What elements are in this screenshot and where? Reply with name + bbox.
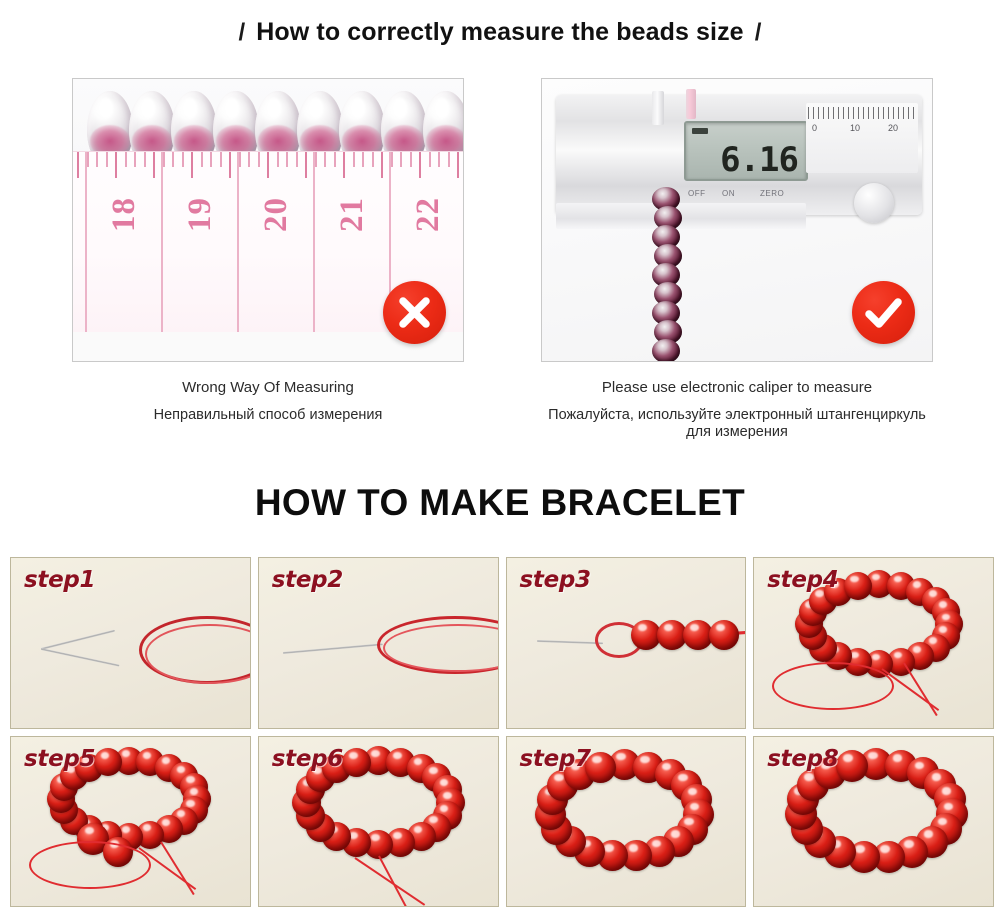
step-cell-2: step2: [258, 557, 499, 729]
tape-number-21: 21: [334, 197, 371, 232]
lcd-reading: 6.16: [720, 143, 798, 177]
caliper-scale-tick: [858, 107, 859, 119]
bracelet-steps-grid: step1 step2 step3 step4 step5 step6step7…: [10, 557, 994, 907]
step-cell-8: step8: [753, 736, 994, 908]
cord-loop: [772, 662, 894, 710]
tape-tick: [324, 152, 326, 167]
tape-tick: [182, 152, 184, 167]
caliper-scale-tick: [898, 107, 899, 119]
caliper-button-on[interactable]: ON: [722, 189, 735, 198]
page-title-text: How to correctly measure the beads size: [256, 18, 743, 46]
lcd-mm-indicator: [692, 128, 708, 134]
tape-tick: [419, 152, 421, 178]
wrong-caption-ru: Неправильный способ измерения: [72, 407, 464, 424]
beading-needle: [41, 648, 120, 667]
cord-tail: [354, 857, 425, 906]
caliper-scale-tick: [878, 107, 879, 119]
tape-tick: [201, 152, 203, 167]
tape-tick: [248, 152, 250, 167]
tape-tick: [134, 152, 136, 167]
tape-tick: [381, 152, 383, 178]
tape-tick: [125, 152, 127, 167]
caliper-scale-tick: [813, 107, 814, 119]
step-label-6: step6: [272, 746, 343, 772]
tape-segment-divider: [85, 152, 87, 332]
tape-tick: [305, 152, 307, 178]
wrong-method-photo: 1819202122: [72, 78, 464, 362]
tape-tick: [448, 152, 450, 167]
caliper-jaw: [652, 91, 664, 125]
tape-tick: [438, 152, 440, 167]
caliper-scale-tick: [908, 107, 909, 119]
caliper-thumb-wheel: [854, 183, 894, 223]
status-badge-correct: [852, 281, 915, 344]
tape-tick: [353, 152, 355, 167]
caliper-scale-tick: [853, 107, 854, 119]
tape-tick: [267, 152, 269, 178]
garnet-bead-strand: [652, 187, 682, 362]
tape-number-18: 18: [106, 197, 143, 232]
status-badge-wrong: [383, 281, 446, 344]
caliper-scale-tick: [888, 107, 889, 119]
tape-tick: [115, 152, 117, 178]
caliper-scale-tick: [863, 107, 864, 119]
tape-tick: [277, 152, 279, 167]
caliper-scale: 01020: [806, 103, 918, 173]
tape-tick: [362, 152, 364, 167]
tape-tick: [258, 152, 260, 167]
wrong-caption-en: Wrong Way Of Measuring: [72, 379, 464, 397]
caliper-scale-tick: [843, 107, 844, 119]
caliper-button-off[interactable]: OFF: [688, 189, 706, 198]
step-cell-1: step1: [10, 557, 251, 729]
tape-tick: [286, 152, 288, 167]
caliper-scale-tick: [828, 107, 829, 119]
tape-tick: [106, 152, 108, 167]
beading-needle: [283, 643, 383, 654]
beading-needle: [536, 640, 602, 644]
step-label-5: step5: [24, 746, 95, 772]
step-cell-4: step4: [753, 557, 994, 729]
red-bead: [836, 750, 868, 782]
caliper-lcd-display: 6.16: [684, 121, 808, 181]
caliper-button-zero[interactable]: ZERO: [760, 189, 784, 198]
tape-tick: [220, 152, 222, 167]
beading-needle: [41, 630, 115, 650]
step-label-8: step8: [767, 746, 838, 772]
tape-tick: [372, 152, 374, 167]
correct-method-card: 6.16 01020 OFF ON ZERO: [541, 78, 933, 442]
tape-tick: [229, 152, 231, 178]
step-cell-3: step3: [506, 557, 747, 729]
tape-tick: [334, 152, 336, 167]
cord-tail: [378, 855, 413, 907]
tape-tick: [400, 152, 402, 167]
caliper-scale-tick: [808, 107, 809, 119]
tape-segment-divider: [313, 152, 315, 332]
caliper-scale-tick: [903, 107, 904, 119]
step-label-3: step3: [520, 567, 591, 593]
tape-tick: [429, 152, 431, 167]
caliper-scale-tick: [818, 107, 819, 119]
tape-number-19: 19: [182, 197, 219, 232]
step-cell-7: step7: [506, 736, 747, 908]
caliper-scale-tick: [893, 107, 894, 119]
tape-segment-divider: [237, 152, 239, 332]
red-bead: [342, 748, 371, 777]
caliper-scale-tick: [868, 107, 869, 119]
step-cell-5: step5: [10, 736, 251, 908]
red-bead: [844, 572, 872, 600]
correct-caption-en: Please use electronic caliper to measure: [541, 379, 933, 397]
step-label-2: step2: [272, 567, 343, 593]
caliper-scale-tick: [838, 107, 839, 119]
caliper-scale-number-0: 0: [812, 123, 817, 133]
title-slash-right: /: [755, 19, 762, 46]
caliper-scale-tick: [823, 107, 824, 119]
caliper-scale-tick: [883, 107, 884, 119]
tape-tick: [172, 152, 174, 167]
step-label-1: step1: [24, 567, 95, 593]
tape-tick: [210, 152, 212, 167]
tape-tick: [96, 152, 98, 167]
step-label-4: step4: [767, 567, 838, 593]
caliper-scale-tick: [848, 107, 849, 119]
red-bead: [709, 620, 739, 650]
caliper-scale-tick: [873, 107, 874, 119]
caliper-scale-number-10: 10: [850, 123, 860, 133]
tape-tick: [457, 152, 459, 178]
section-title: HOW TO MAKE BRACELET: [0, 482, 1000, 524]
correct-method-photo: 6.16 01020 OFF ON ZERO: [541, 78, 933, 362]
tape-number-20: 20: [258, 197, 295, 232]
tape-tick: [144, 152, 146, 167]
caliper-scale-tick: [833, 107, 834, 119]
red-bead: [94, 748, 122, 776]
wrong-method-card: 1819202122 Wrong Way Of Measuring Неправ…: [72, 78, 464, 424]
garnet-bead: [652, 339, 680, 362]
caliper-scale-tick: [913, 107, 914, 119]
tape-tick: [296, 152, 298, 167]
check-icon: [852, 281, 915, 344]
comparison-section: 1819202122 Wrong Way Of Measuring Неправ…: [0, 78, 1000, 438]
caliper-scale-number-20: 20: [888, 123, 898, 133]
tape-tick: [153, 152, 155, 178]
correct-caption-ru: Пожалуйста, используйте электронный штан…: [541, 407, 933, 442]
cord-loop: [29, 841, 151, 889]
tape-segment-divider: [161, 152, 163, 332]
tape-tick: [343, 152, 345, 178]
tape-tick: [191, 152, 193, 178]
title-slash-left: /: [239, 19, 246, 46]
tape-number-22: 22: [410, 197, 447, 232]
tape-tick: [77, 152, 79, 178]
step-cell-6: step6: [258, 736, 499, 908]
tape-tick: [410, 152, 412, 167]
page-title: /How to correctly measure the beads size…: [0, 18, 1000, 47]
step-label-7: step7: [520, 746, 591, 772]
cross-icon: [383, 281, 446, 344]
caliper-depth-rod: [686, 89, 696, 119]
